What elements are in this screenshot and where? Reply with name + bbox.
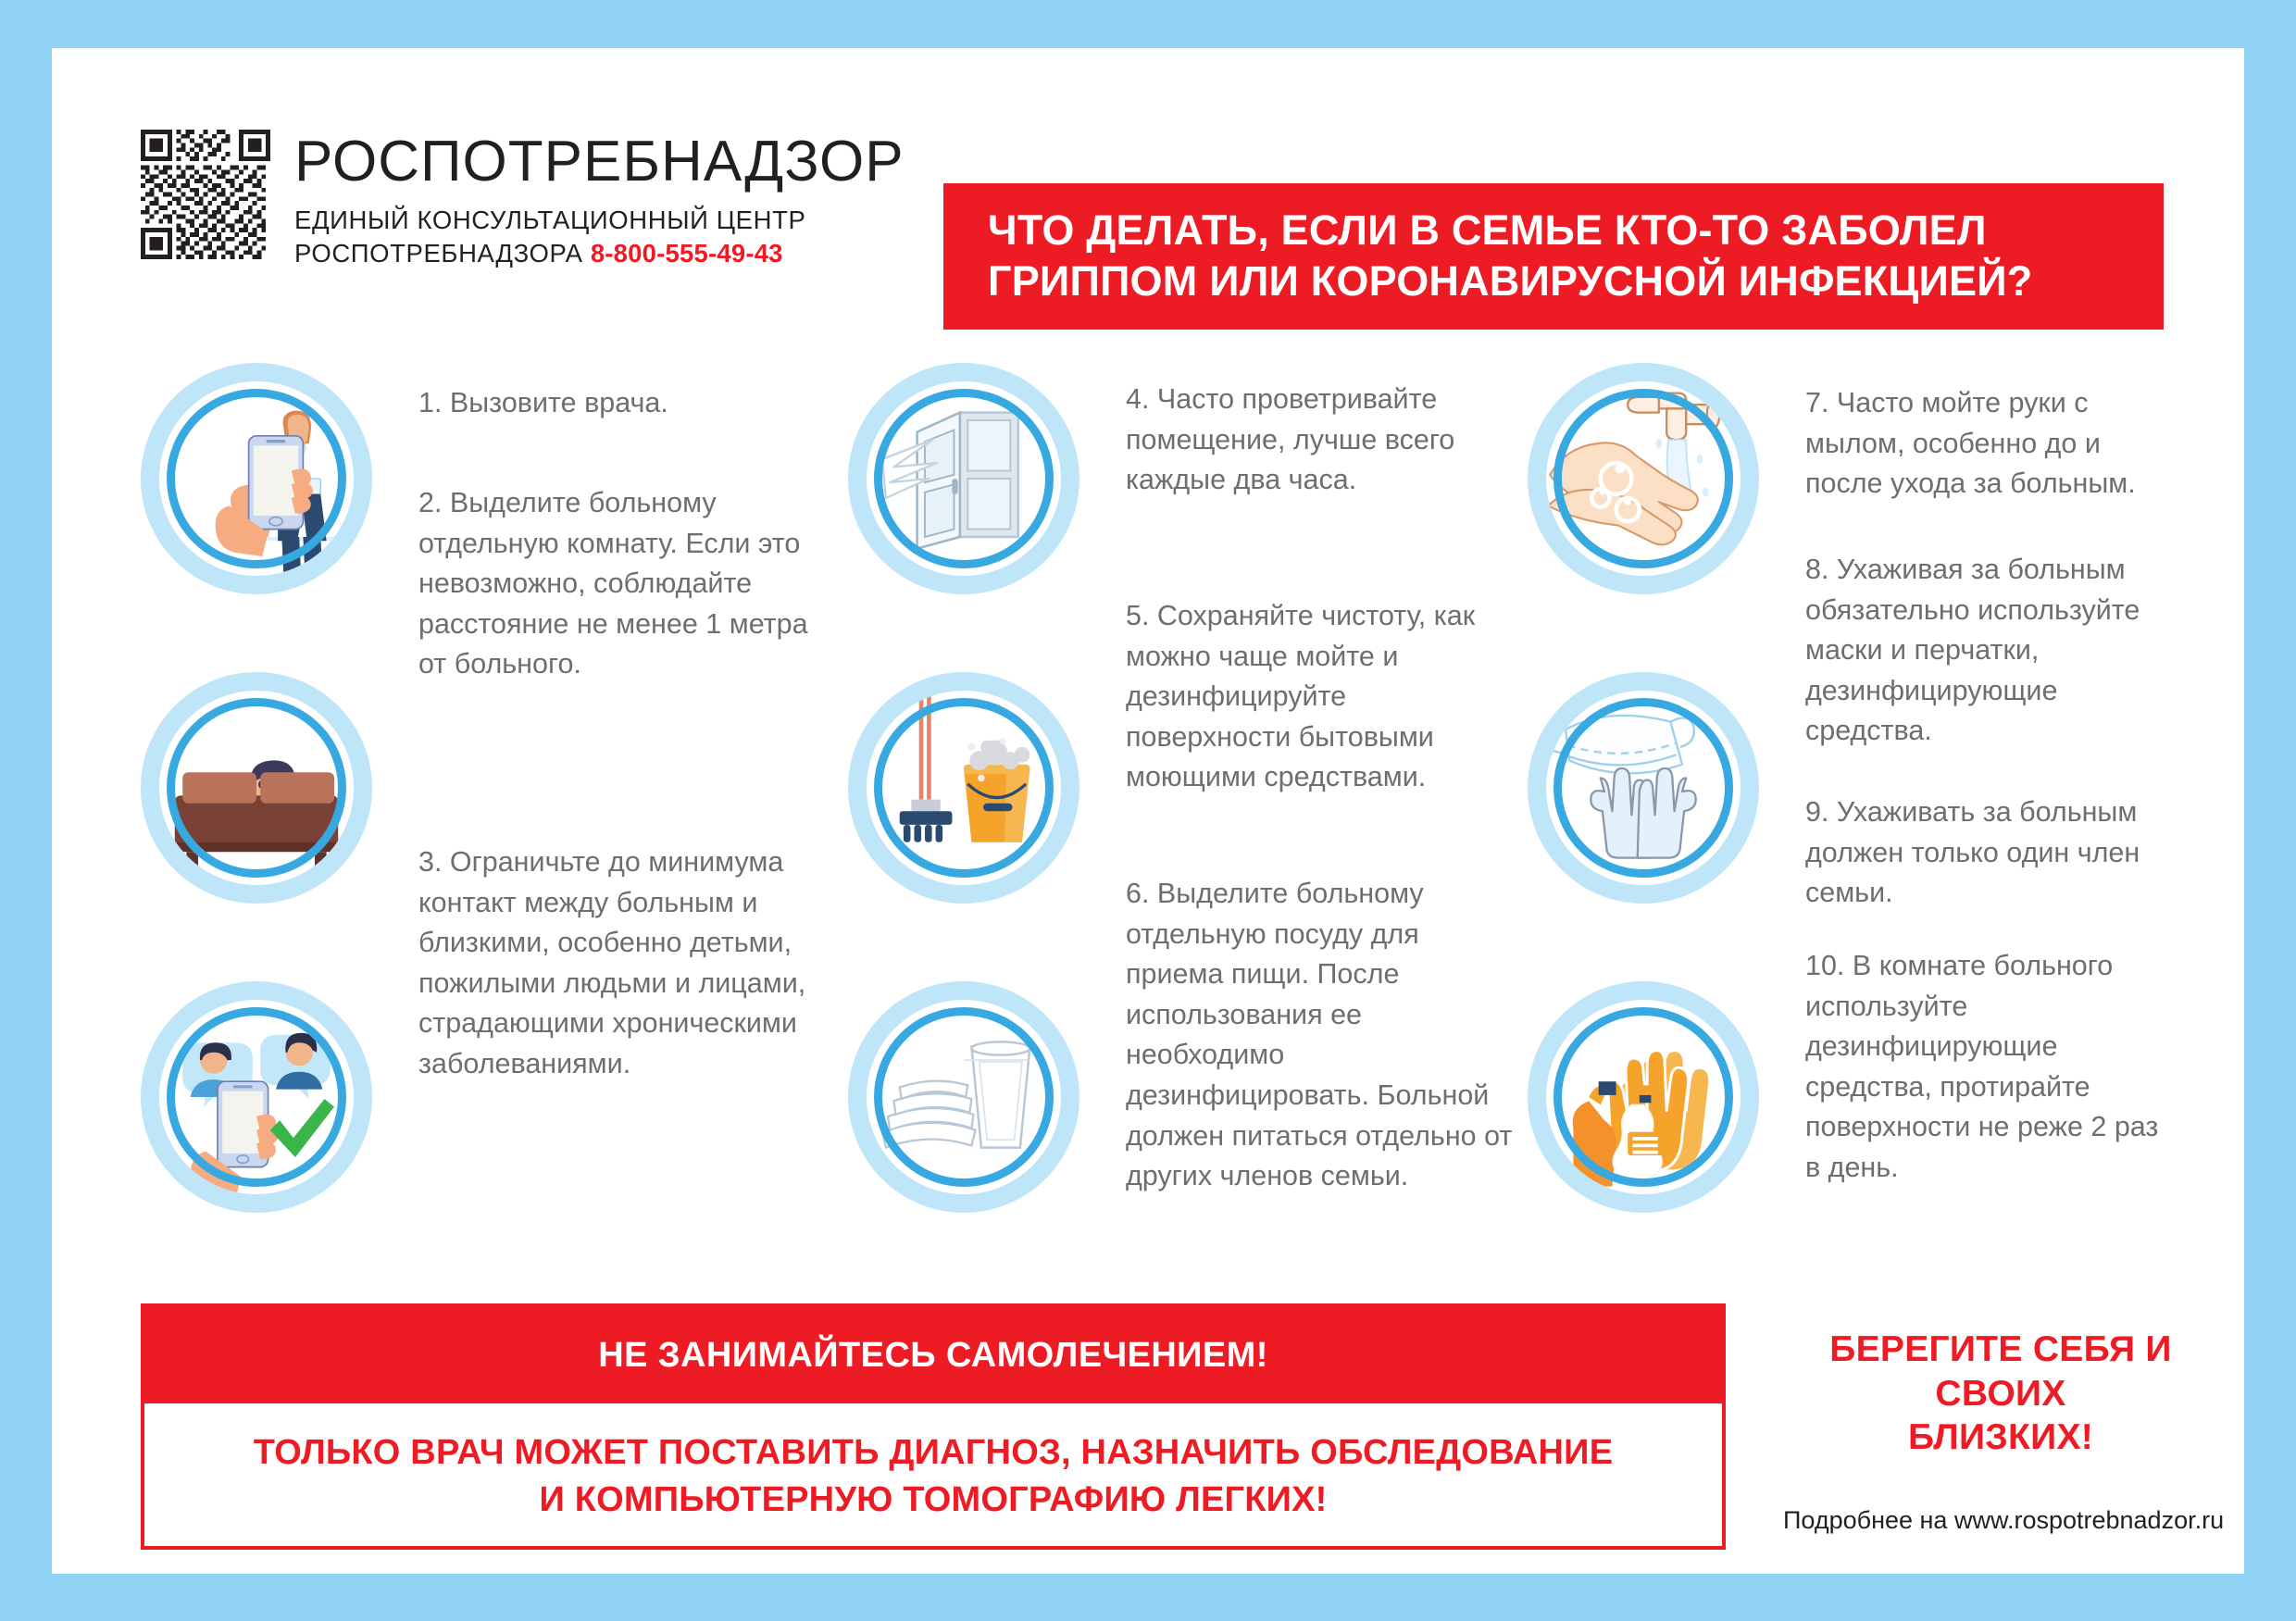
advice-item-3: 3. Ограничьте до минимума контакт между …	[418, 842, 826, 1085]
hotline-phone-number[interactable]: 8-800-555-49-43	[591, 239, 783, 268]
icon-inner-ring	[1554, 698, 1733, 878]
closing-slogan-line-2: БЛИЗКИХ!	[1783, 1415, 2218, 1460]
person-resting-on-sofa-icon	[141, 672, 372, 904]
icon-inner-ring	[874, 698, 1054, 878]
brand-subtitle-line-2: РОСПОТРЕБНАДЗОРА 8-800-555-49-43	[294, 237, 905, 270]
advice-item-6: 6. Выделите больному отдельную посуду дл…	[1126, 874, 1515, 1197]
advice-item-2: 2. Выделите больному отдельную комнату. …	[418, 483, 826, 685]
mop-and-bucket-icon	[848, 672, 1079, 904]
warning-body-line-1: ТОЛЬКО ВРАЧ МОЖЕТ ПОСТАВИТЬ ДИАГНОЗ, НАЗ…	[254, 1429, 1614, 1477]
poster-footer: НЕ ЗАНИМАЙТЕСЬ САМОЛЕЧЕНИЕМ! ТОЛЬКО ВРАЧ…	[52, 1279, 2244, 1574]
hand-washing-tap-icon	[1528, 363, 1759, 594]
advice-item-5: 5. Сохраняйте чистоту, как можно чаще мо…	[1126, 596, 1515, 798]
more-info-url[interactable]: Подробнее на www.rospotrebnadzor.ru	[1783, 1506, 2218, 1535]
phone-call-doctor-icon	[141, 363, 372, 594]
closing-slogan-line-1: БЕРЕГИТЕ СЕБЯ И СВОИХ	[1783, 1328, 2218, 1415]
closing-slogan: БЕРЕГИТЕ СЕБЯ И СВОИХ БЛИЗКИХ!	[1783, 1328, 2218, 1460]
warning-body-band: ТОЛЬКО ВРАЧ МОЖЕТ ПОСТАВИТЬ ДИАГНОЗ, НАЗ…	[144, 1403, 1722, 1550]
video-call-two-people-icon	[141, 981, 372, 1213]
brand-text-block: РОСПОТРЕБНАДЗОР ЕДИНЫЙ КОНСУЛЬТАЦИОННЫЙ …	[294, 130, 905, 271]
advice-column-2: 4. Часто проветривайте помещение, лучше …	[848, 363, 1524, 1279]
icon-inner-ring	[874, 389, 1054, 568]
warning-headline-band: НЕ ЗАНИМАЙТЕСЬ САМОЛЕЧЕНИЕМ!	[144, 1307, 1722, 1403]
header-red-banner: ЧТО ДЕЛАТЬ, ЕСЛИ В СЕМЬЕ КТО-ТО ЗАБОЛЕЛ …	[943, 183, 2164, 330]
poster-canvas: РОСПОТРЕБНАДЗОР ЕДИНЫЙ КОНСУЛЬТАЦИОННЫЙ …	[52, 48, 2244, 1574]
icon-inner-ring	[1554, 1007, 1733, 1187]
brand-subtitle-org: РОСПОТРЕБНАДЗОРА	[294, 239, 583, 268]
icon-inner-ring	[167, 698, 346, 878]
header-banner-line-1: ЧТО ДЕЛАТЬ, ЕСЛИ В СЕМЬЕ КТО-ТО ЗАБОЛЕЛ	[988, 206, 2164, 256]
advice-item-9: 9. Ухаживать за больным должен только од…	[1805, 792, 2176, 914]
advice-columns: 1. Вызовите врача. 2. Выделите больному …	[52, 363, 2244, 1279]
icon-inner-ring	[167, 1007, 346, 1187]
brand-subtitle: ЕДИНЫЙ КОНСУЛЬТАЦИОННЫЙ ЦЕНТР РОСПОТРЕБН…	[294, 204, 905, 271]
advice-item-1: 1. Вызовите врача.	[418, 383, 826, 424]
advice-column-3: 7. Часто мойте руки с мылом, особенно до…	[1528, 363, 2176, 1279]
qr-code-icon	[141, 130, 270, 259]
advice-item-4: 4. Часто проветривайте помещение, лучше …	[1126, 380, 1515, 501]
advice-item-10: 10. В комнате больного используйте дезин…	[1805, 946, 2176, 1189]
poster-header: РОСПОТРЕБНАДЗОР ЕДИНЫЙ КОНСУЛЬТАЦИОННЫЙ …	[52, 48, 2244, 280]
brand-block: РОСПОТРЕБНАДЗОР ЕДИНЫЙ КОНСУЛЬТАЦИОННЫЙ …	[141, 130, 905, 271]
mask-and-gloves-icon	[1528, 672, 1759, 904]
advice-column-1: 1. Вызовите врача. 2. Выделите больному …	[141, 363, 844, 1279]
icon-inner-ring	[1554, 389, 1733, 568]
advice-item-8: 8. Ухаживая за больным обязательно испол…	[1805, 550, 2176, 752]
advice-item-7: 7. Часто мойте руки с мылом, особенно до…	[1805, 383, 2176, 505]
warning-body-line-2: И КОМПЬЮТЕРНУЮ ТОМОГРАФИЮ ЛЕГКИХ!	[539, 1477, 1327, 1524]
icon-inner-ring	[874, 1007, 1054, 1187]
icon-inner-ring	[167, 389, 346, 568]
cleaning-products-gloves-icon	[1528, 981, 1759, 1213]
self-medication-warning-box: НЕ ЗАНИМАЙТЕСЬ САМОЛЕЧЕНИЕМ! ТОЛЬКО ВРАЧ…	[141, 1303, 1726, 1550]
brand-title: РОСПОТРЕБНАДЗОР	[294, 133, 905, 191]
warning-headline: НЕ ЗАНИМАЙТЕСЬ САМОЛЕЧЕНИЕМ!	[598, 1336, 1268, 1376]
closing-block: БЕРЕГИТЕ СЕБЯ И СВОИХ БЛИЗКИХ! Подробнее…	[1783, 1328, 2218, 1535]
separate-dishes-icon	[848, 981, 1079, 1213]
brand-subtitle-line-1: ЕДИНЫЙ КОНСУЛЬТАЦИОННЫЙ ЦЕНТР	[294, 204, 905, 237]
open-window-ventilation-icon	[848, 363, 1079, 594]
header-banner-line-2: ГРИППОМ ИЛИ КОРОНАВИРУСНОЙ ИНФЕКЦИЕЙ?	[988, 256, 2164, 307]
